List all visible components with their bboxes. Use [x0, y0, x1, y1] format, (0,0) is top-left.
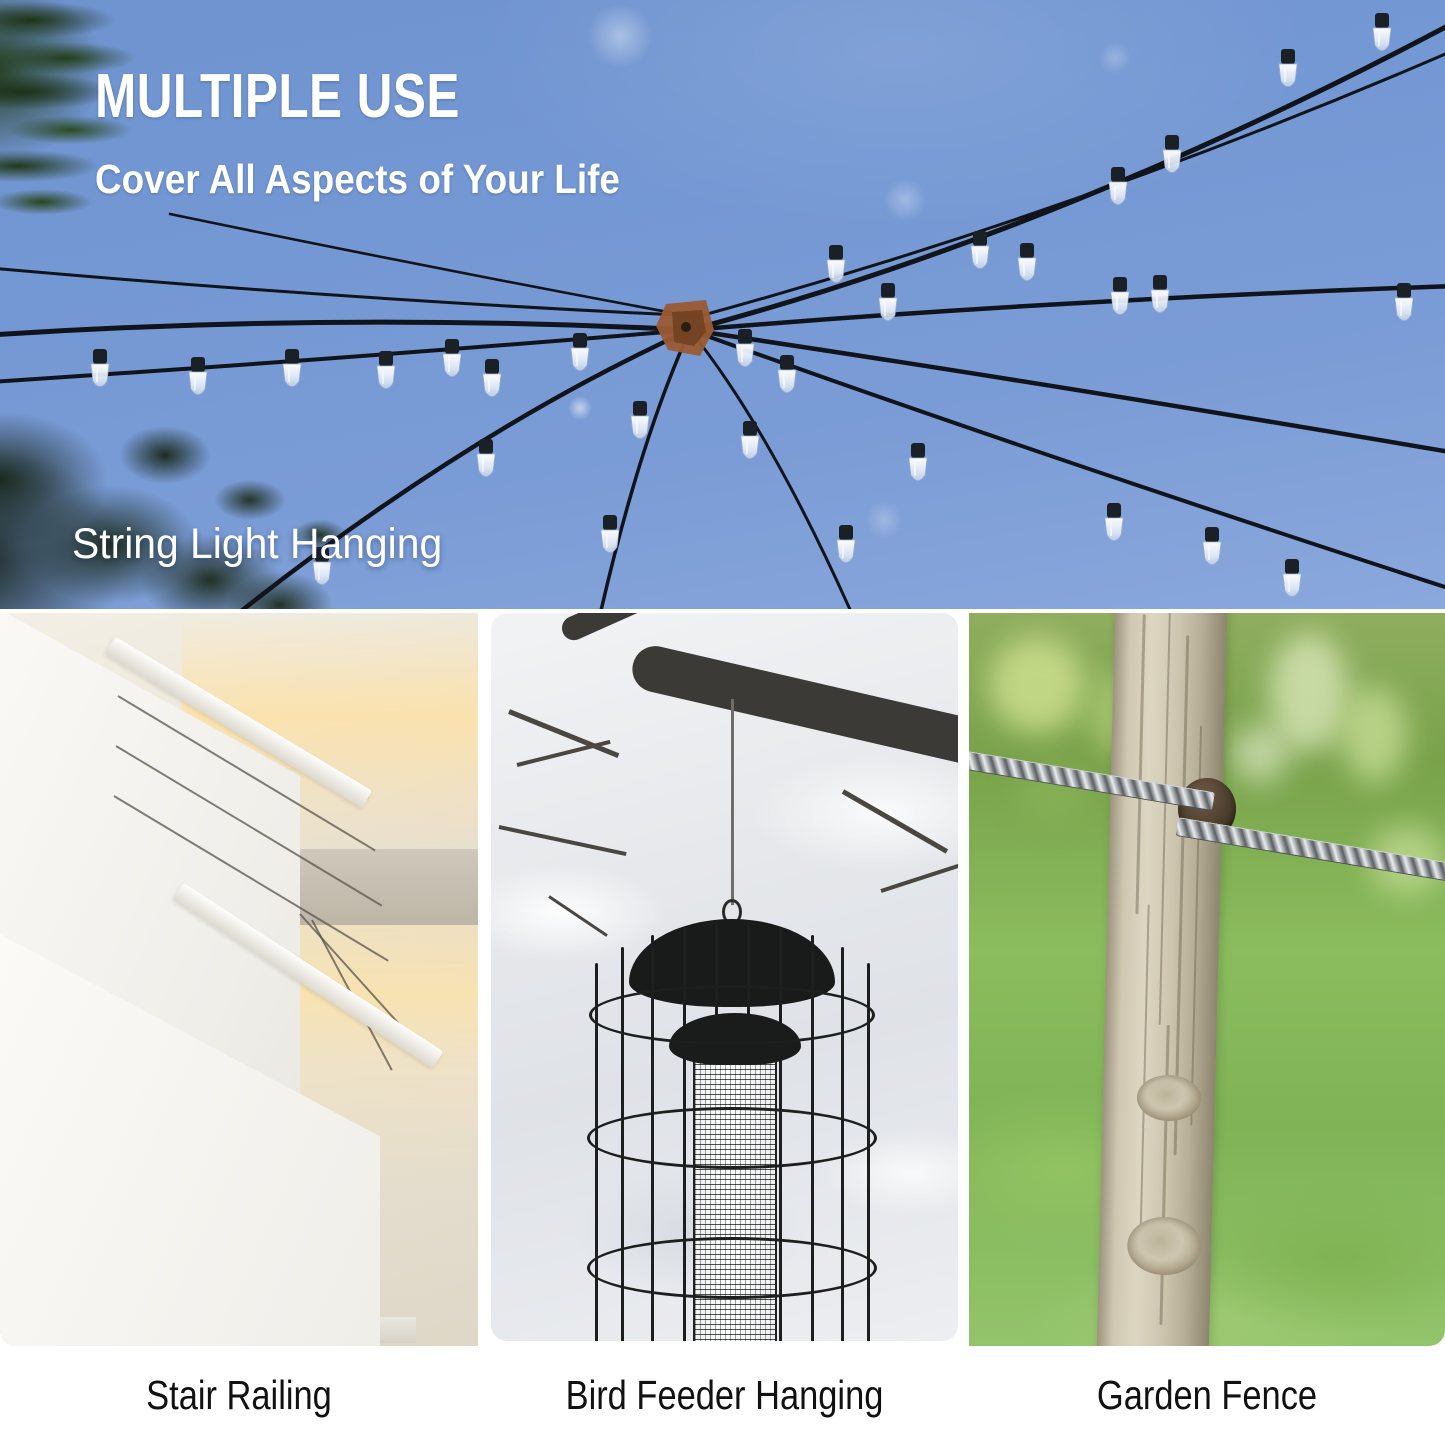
wood-grain [1135, 614, 1145, 914]
wood-grain [1159, 613, 1171, 1025]
caption-bird-feeder-hanging: Bird Feeder Hanging [528, 1372, 920, 1419]
hero-panel-string-light: MULTIPLE USE Cover All Aspects of Your L… [0, 0, 1445, 609]
hero-scene-caption: String Light Hanging [72, 520, 442, 569]
wood-grain [1159, 1025, 1169, 1325]
bokeh-light [1231, 725, 1289, 783]
product-feature-image: MULTIPLE USE Cover All Aspects of Your L… [0, 0, 1445, 1445]
caption-garden-fence: Garden Fence [1007, 1372, 1407, 1419]
hero-text-block: MULTIPLE USE Cover All Aspects of Your L… [95, 66, 678, 203]
cage-ring [587, 1107, 877, 1169]
page-subtitle: Cover All Aspects of Your Life [95, 156, 620, 203]
cage-ring [589, 985, 875, 1045]
bokeh-light [989, 637, 1085, 733]
bokeh-light [1341, 687, 1407, 783]
panel-bird-feeder [491, 613, 958, 1341]
panel-stair-railing [0, 613, 478, 1346]
hanging-wire [731, 699, 734, 905]
cage-ring [587, 1237, 877, 1299]
caption-stair-railing: Stair Railing [38, 1372, 440, 1419]
panel-garden-fence [969, 613, 1445, 1346]
page-title: MULTIPLE USE [95, 66, 562, 128]
wooden-fence-post [1096, 613, 1227, 1346]
railing-post [378, 837, 391, 1137]
wood-knot [1127, 1216, 1202, 1276]
caged-bird-feeder [575, 919, 887, 1341]
